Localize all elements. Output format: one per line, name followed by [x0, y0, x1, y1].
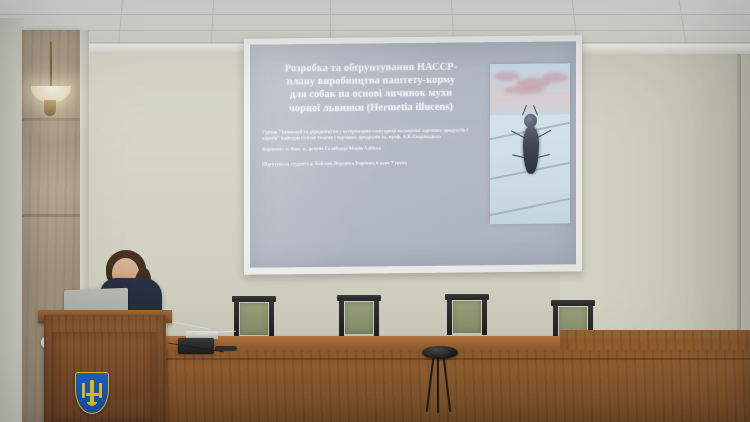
sconce-base	[44, 100, 56, 116]
fly-body	[523, 126, 539, 174]
table-edge-seam	[150, 358, 750, 360]
chair-cushion	[453, 301, 481, 333]
sconce-rod	[50, 42, 52, 90]
projected-slide: Розробка та обґрунтування НАССР- плану в…	[250, 41, 576, 267]
slide-title: Розробка та обґрунтування НАССР- плану в…	[260, 60, 482, 115]
microphone-head	[422, 346, 458, 359]
chair-cushion	[240, 303, 268, 335]
slide-supervisor: Керівник: к. біол. н., доцент Галабурда …	[262, 146, 478, 154]
slide-affiliation: Гурток "Інновації та дорадництво у ветер…	[262, 128, 478, 142]
stone-panel-seam	[22, 118, 80, 121]
stone-panel-seam	[22, 214, 80, 217]
photo-rail-line	[490, 195, 570, 218]
slide-photo-black-soldier-fly	[490, 63, 570, 224]
slide-body-text: Гурток "Інновації та дорадництво у ветер…	[262, 128, 478, 174]
presentation-room-scene: Розробка та обґрунтування НАССР- плану в…	[0, 0, 750, 422]
left-wall-strip	[0, 18, 24, 422]
chair-cushion	[345, 302, 373, 334]
ukrainian-coat-of-arms-icon	[75, 372, 109, 414]
wall-corner-edge	[737, 54, 741, 354]
fly-head	[524, 114, 537, 128]
slide-author: Підготувала студентка: Байлюк Вероніка І…	[262, 161, 478, 169]
projection-screen: Розробка та обґрунтування НАССР- плану в…	[244, 35, 582, 275]
